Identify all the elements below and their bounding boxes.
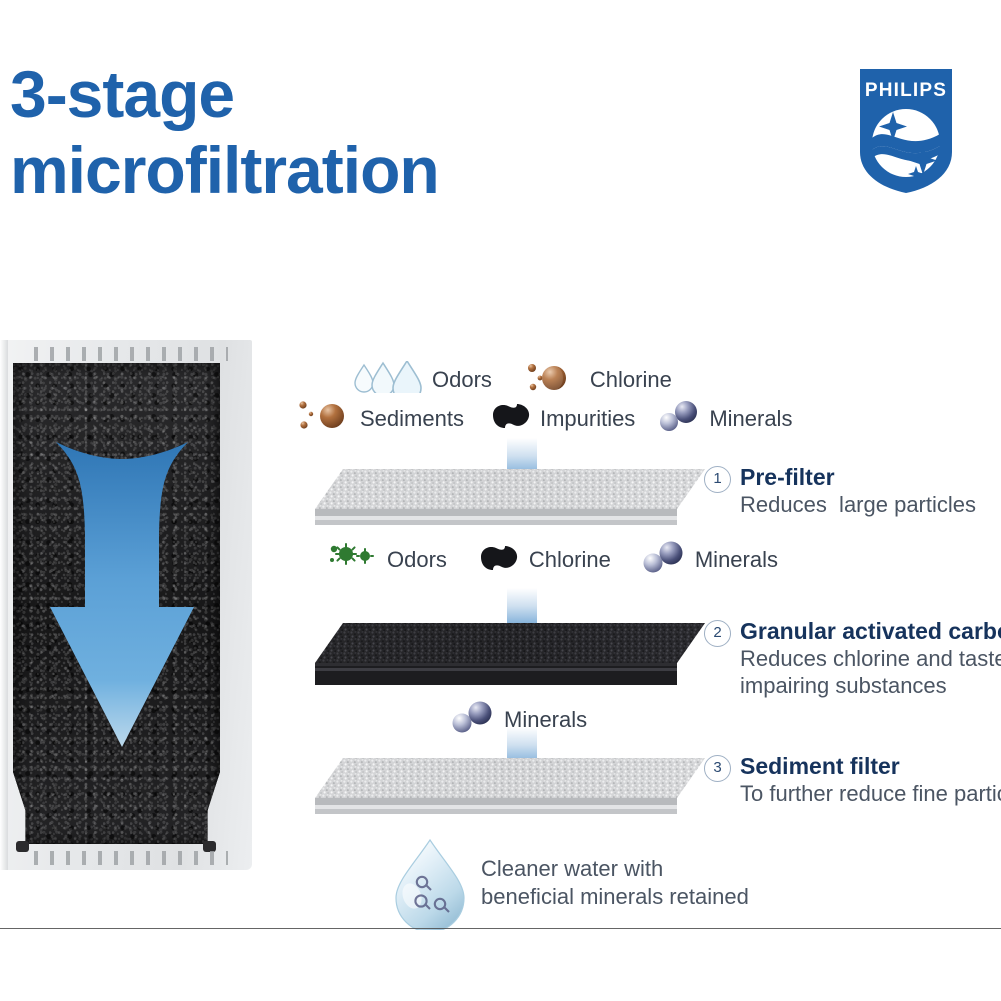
mid-label-text: Odors bbox=[387, 549, 447, 571]
green-microbe-icon bbox=[327, 540, 379, 579]
contaminant-odors: Odors bbox=[352, 361, 492, 398]
result-caption: Cleaner water with beneficial minerals r… bbox=[481, 855, 749, 911]
contaminant-minerals: Minerals bbox=[657, 400, 792, 437]
contaminant-impurities: Impurities bbox=[490, 401, 635, 436]
mid-label-odors: Odors bbox=[327, 540, 447, 579]
contaminant-sediments: Sediments bbox=[296, 398, 464, 439]
infographic-canvas: 3-stage microfiltration PHILIPS bbox=[0, 0, 1001, 1001]
page-title-line-1: 3-stage bbox=[10, 57, 234, 131]
stage-subtitle: Reduces large particles bbox=[740, 492, 976, 517]
contaminant-label: Sediments bbox=[360, 408, 464, 430]
water-droplets-icon bbox=[352, 361, 424, 398]
cartridge-top-vents bbox=[34, 347, 228, 361]
page-title: 3-stage microfiltration bbox=[10, 56, 630, 208]
filter-layer-stage-1 bbox=[315, 463, 705, 531]
black-blob-icon bbox=[490, 401, 532, 436]
contaminant-chlorine: Chlorine bbox=[524, 360, 672, 399]
contaminant-row-1: Odors Chlorine bbox=[352, 360, 672, 399]
philips-wordmark: PHILIPS bbox=[865, 80, 947, 101]
stage-title: Granular activated carbon bbox=[740, 618, 1001, 644]
philips-logo: PHILIPS bbox=[857, 66, 955, 196]
filter-layer-stage-3 bbox=[315, 752, 705, 820]
mid-label-chlorine: Chlorine bbox=[477, 542, 611, 577]
mineral-spheres-icon bbox=[657, 400, 701, 437]
contaminant-row-2: Sediments Impurities Minerals bbox=[296, 398, 792, 439]
stage-number-badge: 2 bbox=[704, 620, 731, 647]
stage-subtitle: Reduces chlorine and taste impairing sub… bbox=[740, 646, 1001, 698]
cartridge-bottom-vents bbox=[34, 851, 228, 865]
cartridge-nub-left bbox=[16, 841, 29, 852]
mid-label-minerals: Minerals bbox=[641, 540, 778, 579]
contaminant-label: Chlorine bbox=[590, 369, 672, 391]
stage-title: Pre-filter bbox=[740, 464, 835, 490]
contaminant-label: Impurities bbox=[540, 408, 635, 430]
stage-number-badge: 1 bbox=[704, 466, 731, 493]
mid-label-text: Minerals bbox=[695, 549, 778, 571]
filter-cartridge bbox=[0, 340, 252, 870]
filter-layer-stage-2 bbox=[315, 617, 705, 695]
bottom-divider bbox=[0, 928, 1001, 929]
contaminant-label: Minerals bbox=[709, 408, 792, 430]
stage-2-text: 2 Granular activated carbon Reduces chlo… bbox=[704, 617, 1001, 699]
cartridge-flow-arrow-icon bbox=[44, 425, 200, 755]
stage-title: Sediment filter bbox=[740, 753, 900, 779]
stage-3-text: 3 Sediment filter To further reduce fine… bbox=[704, 752, 1001, 807]
page-title-line-2: microfiltration bbox=[10, 132, 630, 208]
brown-sediment-dots-icon bbox=[296, 398, 352, 439]
brown-spheres-icon bbox=[524, 360, 582, 399]
stage-number-badge: 3 bbox=[704, 755, 731, 782]
mid-label-row: Odors Chlorine Minerals bbox=[327, 540, 778, 579]
mineral-spheres-icon bbox=[641, 540, 687, 579]
stage-subtitle: To further reduce fine particles bbox=[740, 781, 1001, 806]
stage-1-text: 1 Pre-filter Reduces large particles bbox=[704, 463, 1001, 518]
black-blob-icon bbox=[477, 542, 521, 577]
contaminant-label: Odors bbox=[432, 369, 492, 391]
water-drop-with-minerals-icon bbox=[386, 838, 474, 930]
mid-label-text: Chlorine bbox=[529, 549, 611, 571]
